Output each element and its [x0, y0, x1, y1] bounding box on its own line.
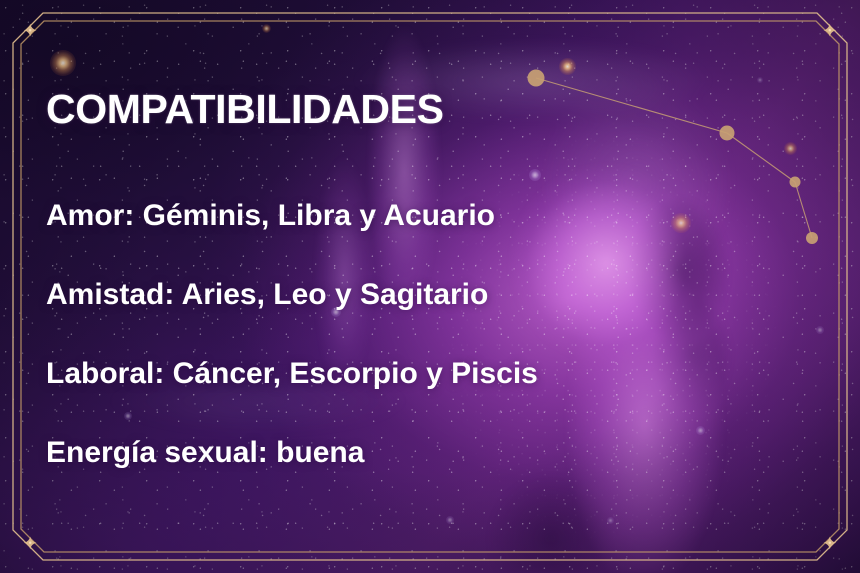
star-glow [262, 24, 271, 33]
star-glow [607, 517, 614, 524]
star-glow [559, 58, 576, 75]
compatibility-line: Amistad: Aries, Leo y Sagitario [46, 278, 646, 311]
sparkle-icon [24, 537, 36, 549]
constellation-line [727, 133, 795, 182]
compatibility-line: Energía sexual: buena [46, 436, 646, 469]
star-glow [757, 77, 763, 83]
star-glow [50, 50, 76, 76]
page-title: COMPATIBILIDADES [46, 88, 646, 131]
compatibility-line: Laboral: Cáncer, Escorpio y Piscis [46, 357, 646, 390]
star-glow [446, 516, 454, 524]
star-glow [784, 142, 797, 155]
star-glow [816, 326, 824, 334]
constellation-node [720, 126, 735, 141]
star-glow [671, 213, 691, 233]
sparkle-icon [24, 24, 36, 36]
horoscope-compatibility-card: COMPATIBILIDADES Amor: Géminis, Libra y … [0, 0, 860, 573]
constellation-node [806, 232, 818, 244]
sparkle-icon [824, 537, 836, 549]
text-block: COMPATIBILIDADES Amor: Géminis, Libra y … [46, 88, 646, 469]
constellation-node [790, 177, 801, 188]
star-glow [696, 426, 705, 435]
constellation-node [528, 70, 545, 87]
constellation-line [795, 182, 812, 238]
compatibility-line: Amor: Géminis, Libra y Acuario [46, 199, 646, 232]
sparkle-icon [824, 24, 836, 36]
compatibility-list: Amor: Géminis, Libra y AcuarioAmistad: A… [46, 199, 646, 469]
